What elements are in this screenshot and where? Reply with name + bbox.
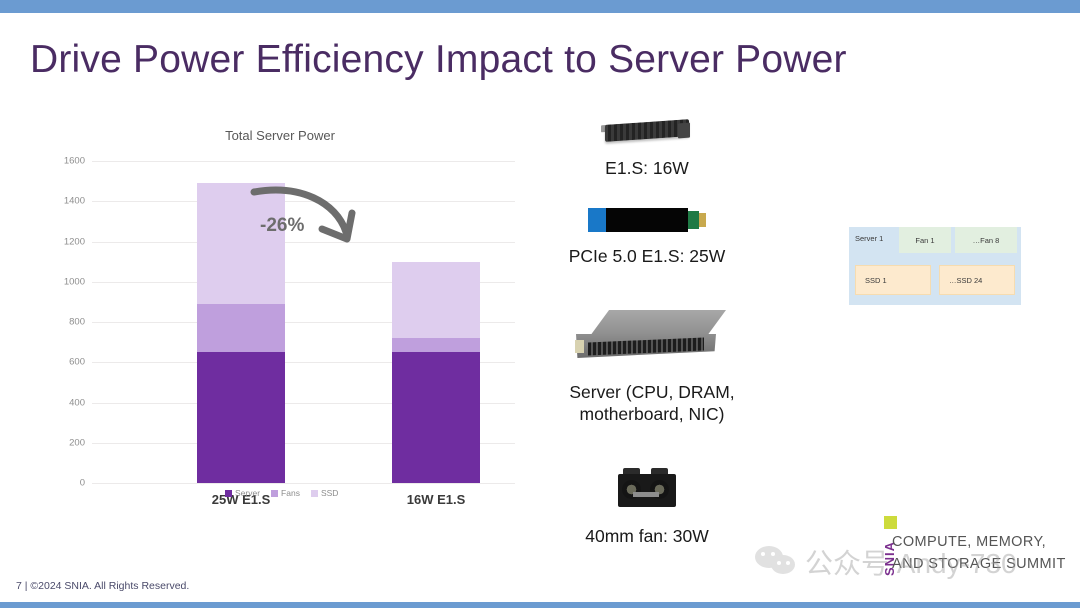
- snia-summit-logo: SNIA COMPUTE, MEMORY, AND STORAGE SUMMIT: [868, 530, 1073, 588]
- chart-y-tick: 1600: [64, 156, 85, 167]
- chart-legend: Server Fans SSD: [225, 488, 338, 498]
- legend-label-fans: Fans: [281, 488, 300, 498]
- chart-y-tick: 200: [69, 437, 85, 448]
- legend-label-server: Server: [235, 488, 260, 498]
- server-chassis-image: [572, 310, 732, 365]
- reduction-percent-label: -26%: [260, 215, 304, 237]
- chart-y-tick: 1200: [64, 236, 85, 247]
- diagram-fan-last: …Fan 8: [955, 227, 1017, 253]
- component-label: PCIe 5.0 E1.S: 25W: [552, 246, 742, 268]
- chart-category-label: 16W E1.S: [366, 492, 506, 507]
- legend-swatch-fans: [271, 490, 278, 497]
- logo-line-1: COMPUTE, MEMORY,: [892, 534, 1046, 550]
- component-pcie-drive: PCIe 5.0 E1.S: 25W: [552, 208, 742, 268]
- component-fan: 40mm fan: 30W: [552, 468, 742, 548]
- logo-square-icon: [884, 516, 897, 529]
- chart-y-tick: 400: [69, 397, 85, 408]
- chart-title: Total Server Power: [45, 128, 515, 143]
- bar-segment-server[interactable]: [392, 352, 480, 483]
- legend-item-server: Server: [225, 488, 260, 498]
- chart-y-tick: 800: [69, 317, 85, 328]
- bar-segment-ssd[interactable]: [392, 262, 480, 338]
- slide-canvas: Drive Power Efficiency Impact to Server …: [0, 0, 1080, 608]
- diagram-fan-row: Fan 1 …Fan 8: [849, 227, 1021, 253]
- component-label: Server (CPU, DRAM, motherboard, NIC): [552, 382, 752, 425]
- component-label: E1.S: 16W: [552, 158, 742, 180]
- wechat-logo-icon: [755, 544, 801, 574]
- logo-line-2: AND STORAGE SUMMIT: [892, 556, 1066, 572]
- diagram-ssd-last: …SSD 24: [939, 265, 1015, 295]
- component-server: Server (CPU, DRAM, motherboard, NIC): [552, 310, 752, 425]
- bottom-accent-bar: [0, 602, 1080, 608]
- chart-y-tick: 0: [80, 478, 85, 489]
- legend-label-ssd: SSD: [321, 488, 338, 498]
- e1s-drive-image: [601, 118, 693, 144]
- top-accent-bar: [0, 0, 1080, 13]
- legend-item-ssd: SSD: [311, 488, 338, 498]
- pcie-drive-image: [588, 208, 706, 232]
- bar-segment-fans[interactable]: [197, 304, 285, 352]
- diagram-fan-first: Fan 1: [899, 227, 951, 253]
- legend-swatch-ssd: [311, 490, 318, 497]
- chart-y-tick: 600: [69, 357, 85, 368]
- chart-gridline: [92, 483, 515, 484]
- chart-gridline: [92, 161, 515, 162]
- bar-segment-server[interactable]: [197, 352, 285, 483]
- legend-swatch-server: [225, 490, 232, 497]
- server-composition-diagram: Server 1 Fan 1 …Fan 8 SSD 1 …SSD 24: [849, 227, 1021, 305]
- fan-module-image: [614, 468, 680, 514]
- page-title: Drive Power Efficiency Impact to Server …: [30, 38, 847, 82]
- chart-y-tick: 1400: [64, 196, 85, 207]
- diagram-ssd-first: SSD 1: [855, 265, 931, 295]
- reduction-annotation: -26%: [248, 182, 373, 262]
- component-e1s-drive: E1.S: 16W: [552, 118, 742, 180]
- legend-item-fans: Fans: [271, 488, 300, 498]
- component-label: 40mm fan: 30W: [552, 526, 742, 548]
- bar-segment-fans[interactable]: [392, 338, 480, 352]
- chart-y-tick: 1000: [64, 276, 85, 287]
- footer-copyright: 7 | ©2024 SNIA. All Rights Reserved.: [16, 580, 189, 592]
